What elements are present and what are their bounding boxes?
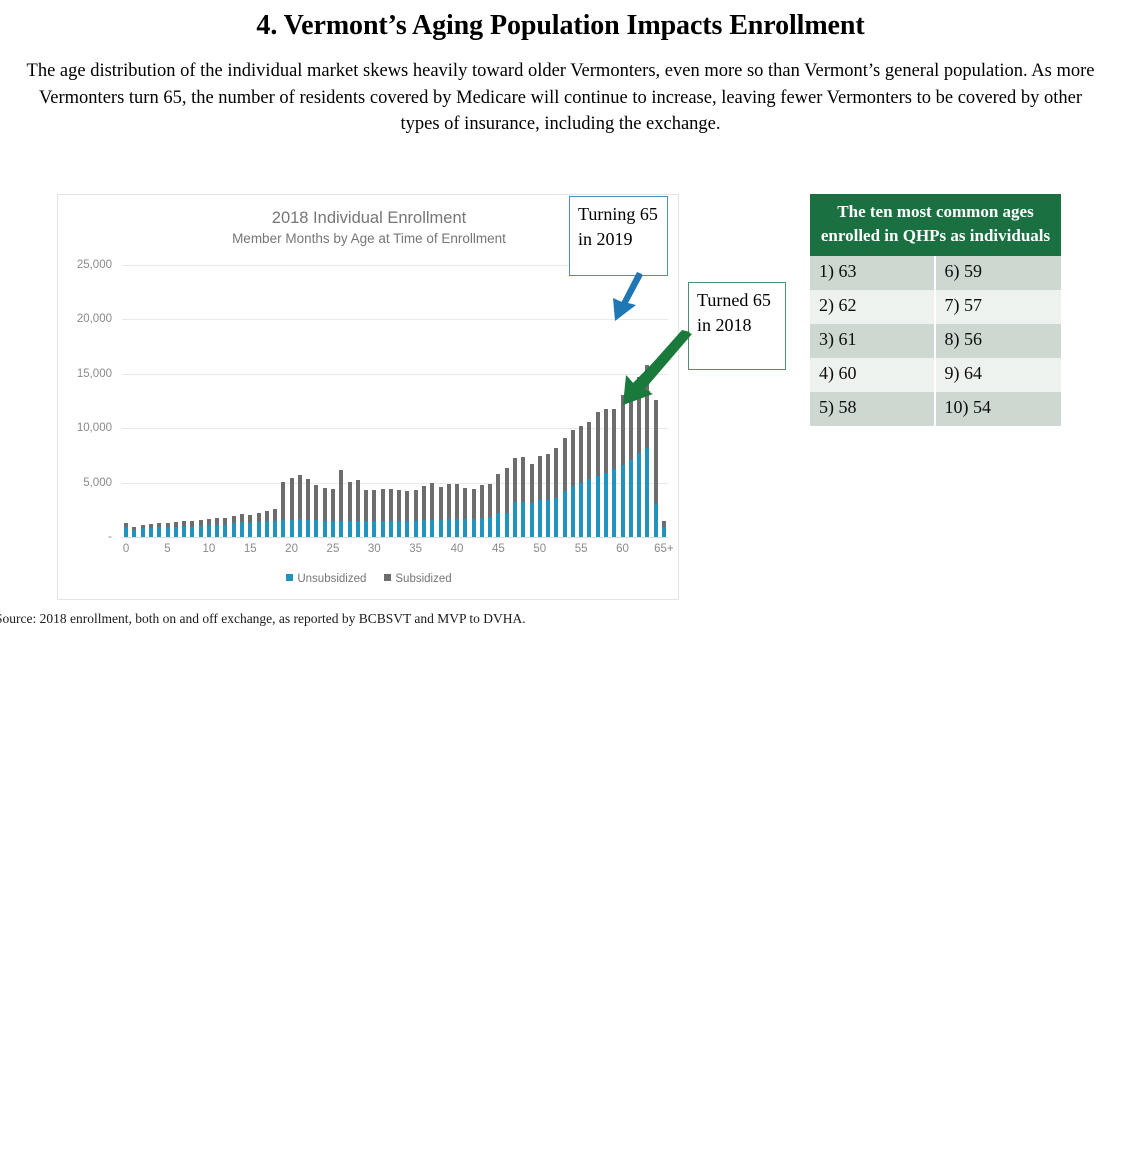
bar-segment-unsubsidized: [480, 518, 484, 537]
bar-segment-subsidized: [290, 478, 294, 519]
ages-table: The ten most common ages enrolled in QHP…: [810, 194, 1061, 426]
chart-bar: [554, 448, 558, 537]
bar-segment-subsidized: [248, 515, 252, 523]
bar-segment-unsubsidized: [629, 460, 633, 537]
bar-segment-subsidized: [472, 489, 476, 519]
x-axis-tick-label: 35: [409, 543, 422, 555]
bar-segment-subsidized: [257, 513, 261, 522]
y-axis-tick-label: 5,000: [83, 477, 112, 489]
bar-segment-unsubsidized: [190, 527, 194, 537]
bar-segment-unsubsidized: [447, 519, 451, 537]
bar-segment-subsidized: [530, 464, 534, 503]
bar-segment-unsubsidized: [389, 521, 393, 537]
bar-segment-subsidized: [496, 474, 500, 513]
chart-bar: [472, 489, 476, 537]
bar-segment-subsidized: [538, 456, 542, 500]
chart-bar: [447, 484, 451, 537]
x-axis-tick-label: 30: [368, 543, 381, 555]
chart-bar: [488, 484, 492, 537]
x-axis-tick-label: 5: [164, 543, 170, 555]
bar-segment-unsubsidized: [381, 521, 385, 537]
chart-bar: [314, 485, 318, 537]
callout-turned-65-2018: Turned 65 in 2018: [688, 282, 786, 370]
table-cell: 4) 60: [810, 358, 936, 392]
chart-bar: [223, 518, 227, 537]
x-axis-tick-label: 50: [533, 543, 546, 555]
bar-segment-subsidized: [554, 448, 558, 498]
table-cell: 7) 57: [936, 290, 1062, 324]
table-cell: 1) 63: [810, 256, 936, 290]
chart-x-axis: 05101520253035404550556065+: [122, 537, 668, 538]
bar-segment-subsidized: [405, 491, 409, 521]
table-cell: 9) 64: [936, 358, 1062, 392]
bar-segment-unsubsidized: [339, 521, 343, 537]
bar-segment-unsubsidized: [637, 453, 641, 537]
x-axis-tick-label: 45: [492, 543, 505, 555]
bar-segment-unsubsidized: [124, 527, 128, 537]
bar-segment-unsubsidized: [604, 473, 608, 537]
bar-segment-unsubsidized: [455, 519, 459, 537]
bar-segment-unsubsidized: [422, 520, 426, 537]
green-arrow-icon: [620, 330, 694, 410]
ages-table-header: The ten most common ages enrolled in QHP…: [810, 194, 1061, 256]
chart-bar: [273, 509, 277, 537]
bar-segment-subsidized: [223, 518, 227, 525]
bar-segment-unsubsidized: [199, 526, 203, 537]
bar-segment-unsubsidized: [563, 491, 567, 537]
table-cell: 6) 59: [936, 256, 1062, 290]
chart-bar: [298, 475, 302, 537]
bar-segment-subsidized: [356, 480, 360, 521]
bar-segment-subsidized: [587, 422, 591, 479]
chart-bar: [463, 488, 467, 538]
chart-bar: [190, 521, 194, 537]
chart-bar: [530, 464, 534, 537]
slide-body-text: The age distribution of the individual m…: [18, 58, 1103, 138]
bar-segment-unsubsidized: [612, 469, 616, 537]
chart-bar: [306, 479, 310, 537]
ages-table-body: 1) 636) 592) 627) 573) 618) 564) 609) 64…: [810, 256, 1061, 426]
bar-segment-unsubsidized: [530, 503, 534, 537]
bar-segment-unsubsidized: [521, 502, 525, 537]
chart-bar: [629, 392, 633, 537]
table-cell: 5) 58: [810, 392, 936, 426]
chart-bar: [199, 520, 203, 537]
bar-segment-subsidized: [505, 468, 509, 512]
bar-segment-subsidized: [331, 489, 335, 521]
bar-segment-unsubsidized: [174, 527, 178, 537]
page-title: 4. Vermont’s Aging Population Impacts En…: [0, 10, 1121, 42]
bar-segment-subsidized: [579, 426, 583, 483]
chart-bar: [174, 522, 178, 537]
bar-segment-subsidized: [513, 458, 517, 502]
bar-segment-unsubsidized: [430, 520, 434, 537]
bar-segment-subsidized: [563, 438, 567, 491]
bar-segment-subsidized: [430, 483, 434, 519]
chart-bar: [397, 490, 401, 537]
chart-bar: [455, 484, 459, 537]
bar-segment-subsidized: [281, 482, 285, 520]
bar-segment-subsidized: [339, 470, 343, 521]
x-axis-tick-label: 0: [123, 543, 129, 555]
chart-bar: [348, 482, 352, 537]
chart-bar: [141, 525, 145, 537]
bar-segment-unsubsidized: [554, 498, 558, 537]
chart-bar: [662, 521, 666, 537]
chart-bar: [414, 490, 418, 537]
bar-segment-unsubsidized: [232, 523, 236, 537]
bar-segment-unsubsidized: [579, 483, 583, 537]
chart-bar: [538, 456, 542, 537]
bar-segment-subsidized: [397, 490, 401, 522]
bar-segment-unsubsidized: [372, 521, 376, 537]
y-axis-tick-label: 15,000: [77, 368, 112, 380]
x-axis-tick-label: 55: [575, 543, 588, 555]
chart-plot-area: 25,00020,00015,00010,0005,000-: [122, 265, 668, 537]
bar-segment-subsidized: [372, 490, 376, 521]
bar-segment-unsubsidized: [281, 520, 285, 537]
chart-bar: [505, 468, 509, 537]
bar-segment-subsidized: [265, 511, 269, 521]
chart-bar: [323, 488, 327, 538]
chart-bar: [604, 409, 608, 537]
bar-segment-unsubsidized: [323, 521, 327, 537]
chart-bar: [248, 515, 252, 537]
table-row: 3) 618) 56: [810, 324, 1061, 358]
bar-segment-unsubsidized: [141, 528, 145, 537]
chart-bar: [356, 480, 360, 537]
chart-bar: [579, 426, 583, 537]
bar-segment-unsubsidized: [364, 521, 368, 537]
table-cell: 2) 62: [810, 290, 936, 324]
bar-segment-unsubsidized: [414, 521, 418, 537]
bar-segment-subsidized: [654, 400, 658, 504]
y-axis-tick-label: 10,000: [77, 422, 112, 434]
chart-bar: [132, 527, 136, 537]
table-row: 2) 627) 57: [810, 290, 1061, 324]
legend-swatch: [384, 574, 391, 581]
chart-bar: [389, 489, 393, 537]
bar-segment-subsidized: [596, 412, 600, 476]
bar-segment-unsubsidized: [621, 465, 625, 537]
chart-bar: [612, 409, 616, 537]
y-axis-tick-label: 25,000: [77, 259, 112, 271]
chart-bar: [571, 430, 575, 537]
chart-legend: UnsubsidizedSubsidized: [58, 573, 680, 585]
x-axis-tick-label: 65+: [654, 543, 674, 555]
vermont-logo: VERMONT AGENCY OF HUMAN SERVICES DEPARTM…: [889, 541, 1121, 619]
bar-segment-unsubsidized: [596, 476, 600, 537]
bar-segment-subsidized: [521, 457, 525, 502]
y-axis-tick-label: -: [108, 531, 112, 543]
bar-segment-subsidized: [306, 479, 310, 520]
chart-bar: [563, 438, 567, 537]
bar-segment-unsubsidized: [257, 522, 261, 537]
chart-bar: [182, 521, 186, 537]
chart-bar: [281, 482, 285, 537]
bar-segment-unsubsidized: [314, 520, 318, 537]
table-row: 5) 5810) 54: [810, 392, 1061, 426]
chart-bar: [124, 523, 128, 537]
bar-segment-unsubsidized: [298, 519, 302, 537]
chart-bar: [207, 519, 211, 537]
x-axis-tick-label: 15: [244, 543, 257, 555]
bar-segment-subsidized: [323, 488, 327, 521]
callout-turning-65-2019: Turning 65 in 2019: [569, 196, 668, 276]
bar-segment-unsubsidized: [215, 525, 219, 538]
chart-bar: [480, 485, 484, 537]
y-axis-tick-label: 20,000: [77, 313, 112, 325]
chart-bar: [621, 395, 625, 537]
bar-segment-subsidized: [364, 490, 368, 522]
bar-segment-unsubsidized: [166, 527, 170, 537]
chart-bar: [422, 486, 426, 537]
bar-segment-subsidized: [447, 484, 451, 519]
bar-segment-unsubsidized: [132, 530, 136, 537]
source-note: Source: 2018 enrollment, both on and off…: [0, 611, 526, 627]
bar-segment-unsubsidized: [662, 527, 666, 537]
bar-segment-unsubsidized: [248, 523, 252, 537]
bar-segment-subsidized: [414, 490, 418, 521]
bar-segment-unsubsidized: [149, 528, 153, 537]
bar-segment-unsubsidized: [182, 526, 186, 537]
bar-segment-unsubsidized: [240, 522, 244, 537]
bar-segment-unsubsidized: [587, 479, 591, 537]
legend-item: Subsidized: [384, 573, 451, 585]
legend-swatch: [286, 574, 293, 581]
bar-segment-subsidized: [612, 409, 616, 469]
chart-bar: [339, 470, 343, 537]
bar-segment-subsidized: [298, 475, 302, 519]
bar-segment-subsidized: [463, 488, 467, 520]
bar-segment-unsubsidized: [645, 448, 649, 537]
chart-bar: [149, 524, 153, 537]
chart-bar: [232, 516, 236, 537]
bar-segment-subsidized: [422, 486, 426, 520]
legend-item: Unsubsidized: [286, 573, 366, 585]
chart-bar: [654, 400, 658, 537]
bar-segment-subsidized: [389, 489, 393, 521]
bar-segment-subsidized: [273, 509, 277, 521]
bar-segment-unsubsidized: [397, 521, 401, 537]
chart-bar: [257, 513, 261, 537]
bar-segment-subsidized: [381, 489, 385, 521]
x-axis-tick-label: 10: [202, 543, 215, 555]
legend-label: Subsidized: [395, 573, 451, 585]
bar-segment-unsubsidized: [273, 521, 277, 537]
x-axis-tick-label: 20: [285, 543, 298, 555]
chart-bar: [290, 478, 294, 537]
legend-label: Unsubsidized: [297, 573, 366, 585]
bar-segment-subsidized: [604, 409, 608, 473]
bar-segment-unsubsidized: [439, 520, 443, 537]
chart-bars: [122, 265, 668, 537]
bar-segment-subsidized: [348, 482, 352, 521]
bar-segment-unsubsidized: [348, 521, 352, 537]
table-row: 4) 609) 64: [810, 358, 1061, 392]
bar-segment-subsidized: [240, 514, 244, 523]
bar-segment-unsubsidized: [265, 521, 269, 537]
x-axis-tick-label: 60: [616, 543, 629, 555]
bar-segment-unsubsidized: [505, 513, 509, 537]
bar-segment-subsidized: [480, 485, 484, 518]
bar-segment-unsubsidized: [290, 520, 294, 537]
bar-segment-unsubsidized: [405, 521, 409, 537]
bar-segment-unsubsidized: [331, 521, 335, 537]
bar-segment-subsidized: [439, 487, 443, 520]
bar-segment-unsubsidized: [654, 504, 658, 537]
bar-segment-subsidized: [455, 484, 459, 518]
chart-bar: [596, 412, 600, 537]
bar-segment-unsubsidized: [488, 517, 492, 537]
blue-arrow-icon: [612, 272, 646, 324]
bar-segment-unsubsidized: [223, 525, 227, 537]
chart-bar: [240, 514, 244, 537]
bar-segment-unsubsidized: [472, 519, 476, 537]
chart-bar: [513, 458, 517, 537]
bar-segment-unsubsidized: [546, 500, 550, 537]
bar-segment-subsidized: [571, 430, 575, 485]
chart-bar: [364, 490, 368, 537]
bar-segment-unsubsidized: [571, 486, 575, 537]
table-row: 1) 636) 59: [810, 256, 1061, 290]
bar-segment-unsubsidized: [157, 527, 161, 537]
x-axis-tick-label: 25: [327, 543, 340, 555]
chart-bar: [166, 523, 170, 537]
chart-bar: [546, 454, 550, 537]
bar-segment-subsidized: [232, 516, 236, 524]
chart-bar: [439, 487, 443, 537]
chart-bar: [405, 491, 409, 537]
bar-segment-unsubsidized: [207, 525, 211, 537]
chart-bar: [496, 474, 500, 537]
bar-segment-unsubsidized: [463, 519, 467, 537]
table-cell: 8) 56: [936, 324, 1062, 358]
chart-bar: [215, 518, 219, 537]
bar-segment-unsubsidized: [356, 521, 360, 537]
bar-segment-unsubsidized: [513, 502, 517, 537]
chart-bar: [265, 511, 269, 537]
bar-segment-unsubsidized: [496, 513, 500, 537]
bar-segment-subsidized: [546, 454, 550, 500]
bar-segment-subsidized: [314, 485, 318, 520]
bar-segment-unsubsidized: [538, 500, 542, 537]
chart-bar: [521, 457, 525, 538]
bar-segment-unsubsidized: [306, 520, 310, 537]
table-cell: 10) 54: [936, 392, 1062, 426]
chart-bar: [430, 483, 434, 537]
x-axis-tick-label: 40: [451, 543, 464, 555]
chart-bar: [372, 490, 376, 537]
table-cell: 3) 61: [810, 324, 936, 358]
chart-bar: [381, 489, 385, 537]
chart-bar: [331, 489, 335, 537]
bar-segment-subsidized: [488, 484, 492, 518]
chart-bar: [157, 523, 161, 537]
chart-bar: [587, 422, 591, 537]
